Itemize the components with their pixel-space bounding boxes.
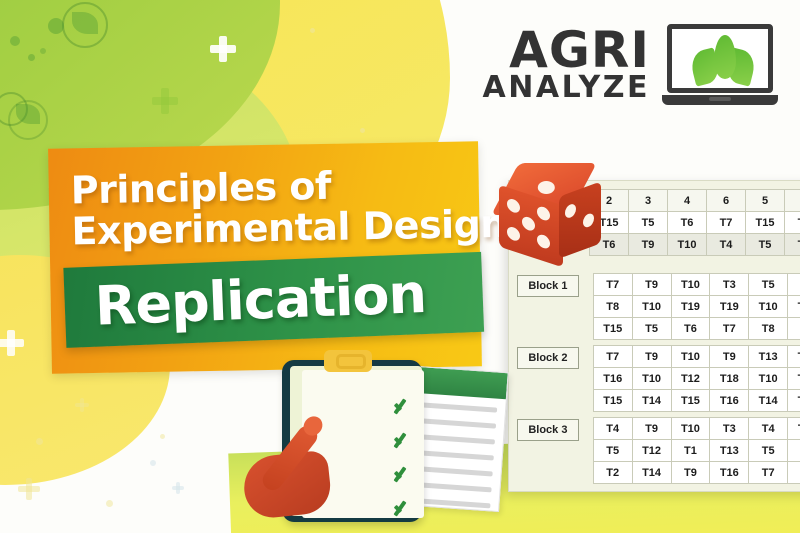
block-section-2: Block 2T7T9T10T9T13T14T16T10T12T18T10T15…: [517, 345, 800, 412]
table-cell: T7: [593, 274, 632, 296]
table-cell: T13: [710, 440, 749, 462]
table-cell: T8: [749, 318, 788, 340]
table-cell: T11: [788, 418, 800, 440]
table-row: T16T10T12T18T10T15: [593, 368, 800, 390]
table-cell: T10: [671, 346, 710, 368]
table-cell: T9: [632, 274, 671, 296]
table-cell: T14: [749, 390, 788, 412]
leaf-icon: [672, 30, 768, 88]
table-cell: T15: [788, 368, 800, 390]
dice-pip: [507, 197, 520, 214]
checkmark-icon: [392, 498, 414, 518]
decor-dot: [150, 460, 156, 466]
table-row: T6T9T10T4T5T6: [590, 234, 800, 256]
dice-pip: [537, 233, 550, 250]
table-cell: T10: [671, 418, 710, 440]
table-row: T15T5T6T7T8T5: [593, 318, 800, 340]
table-cell: T15: [593, 390, 632, 412]
table-header-cell-4: 5: [746, 190, 785, 212]
table-cell: T5: [593, 440, 632, 462]
decor-plus: [75, 398, 89, 412]
table-cell: T10: [668, 234, 707, 256]
table-top: 234655 T15T5T6T7T15T3T6T9T10T4T5T6: [589, 189, 800, 256]
table-header-cell-5: 5: [785, 190, 800, 212]
table-cell: T15: [671, 390, 710, 412]
checklist-item: [312, 396, 414, 418]
table-top-section: 234655 T15T5T6T7T15T3T6T9T10T4T5T6: [589, 189, 800, 256]
pointing-hand-icon: [244, 418, 354, 528]
table-cell: T8: [788, 462, 800, 484]
decor-dot: [160, 434, 165, 439]
table-cell: T12: [632, 440, 671, 462]
table-cell: T12: [671, 368, 710, 390]
checkmark-icon: [392, 464, 414, 486]
block-table-1: T7T9T10T3T5T6T8T10T19T19T10T15T15T5T6T7T…: [593, 273, 800, 340]
table-header-cell-3: 6: [707, 190, 746, 212]
decor-plus: [172, 482, 184, 494]
decor-dot: [10, 36, 20, 46]
table-cell: T5: [788, 318, 800, 340]
table-row: T8T10T19T19T10T15: [593, 296, 800, 318]
table-cell: T10: [632, 296, 671, 318]
table-cell: T5: [632, 318, 671, 340]
dice-pip: [537, 205, 550, 222]
dice-icon: [497, 163, 597, 263]
dice-pip: [522, 215, 535, 232]
table-row: T15T14T15T16T14T17: [593, 390, 800, 412]
decor-plus: [18, 478, 40, 500]
table-cell: T9: [632, 346, 671, 368]
table-row: T7T9T10T9T13T14: [593, 346, 800, 368]
table-cell: T10: [749, 368, 788, 390]
table-cell: T15: [788, 296, 800, 318]
table-cell: T16: [593, 368, 632, 390]
table-cell: T5: [749, 274, 788, 296]
decor-dot: [310, 28, 315, 33]
logo-wordmark: AGRI ANALYZE: [483, 27, 650, 102]
leaf-center: [714, 35, 736, 79]
block-section-1: Block 1T7T9T10T3T5T6T8T10T19T19T10T15T15…: [517, 273, 800, 340]
table-cell: T9: [671, 462, 710, 484]
table-cell: T6: [788, 274, 800, 296]
table-cell: T1: [671, 440, 710, 462]
block-label-1[interactable]: Block 1: [517, 275, 579, 297]
decor-dot: [48, 18, 64, 34]
dice-pip: [583, 212, 594, 229]
table-row: T7T9T10T3T5T6: [593, 274, 800, 296]
table-cell: T7: [593, 346, 632, 368]
decor-plus: [210, 36, 236, 62]
table-cell: T3: [710, 418, 749, 440]
decor-dot: [106, 500, 113, 507]
table-cell: T5: [746, 234, 785, 256]
block-table-2: T7T9T10T9T13T14T16T10T12T18T10T15T15T14T…: [593, 345, 800, 412]
table-cell: T15: [746, 212, 785, 234]
table-cell: T7: [788, 440, 800, 462]
table-cell: T10: [749, 296, 788, 318]
decor-plus: [152, 88, 178, 114]
laptop-icon: [662, 24, 778, 105]
laptop-screen: [667, 24, 773, 93]
table-cell: T6: [785, 234, 800, 256]
table-cell: T2: [593, 462, 632, 484]
logo-text-analyze: ANALYZE: [483, 74, 650, 102]
block-table-3: T4T9T10T3T4T11T5T12T1T13T5T7T2T14T9T16T7…: [593, 417, 800, 484]
block-section-3: Block 3T4T9T10T3T4T11T5T12T1T13T5T7T2T14…: [517, 417, 800, 484]
table-cell: T8: [593, 296, 632, 318]
table-cell: T6: [668, 212, 707, 234]
table-cell: T13: [749, 346, 788, 368]
table-cell: T15: [593, 318, 632, 340]
table-cell: T16: [710, 390, 749, 412]
dice-pip: [538, 181, 555, 194]
table-cell: T6: [671, 318, 710, 340]
table-cell: T4: [749, 418, 788, 440]
table-cell: T3: [785, 212, 800, 234]
highlight-text: Replication: [94, 265, 427, 336]
table-cell: T3: [710, 274, 749, 296]
table-cell: T7: [707, 212, 746, 234]
checkmark-icon: [392, 430, 414, 452]
table-cell: T17: [788, 390, 800, 412]
title-line-2: Experimental Design:: [71, 204, 480, 252]
decor-dot: [40, 48, 46, 54]
block-label-3[interactable]: Block 3: [517, 419, 579, 441]
clipboard-illustration: [262, 346, 510, 533]
laptop-base: [662, 95, 778, 105]
table-cell: T10: [671, 274, 710, 296]
table-cell: T7: [710, 318, 749, 340]
table-cell: T4: [593, 418, 632, 440]
clipboard-clamp: [324, 350, 372, 372]
decor-dot: [28, 54, 35, 61]
brand-logo: AGRI ANALYZE: [483, 24, 778, 105]
table-cell: T9: [629, 234, 668, 256]
table-row: T4T9T10T3T4T11: [593, 418, 800, 440]
decor-dot: [36, 438, 43, 445]
table-cell: T14: [632, 462, 671, 484]
table-header-cell-1: 3: [629, 190, 668, 212]
title-banner: Principles of Experimental Design: Repli…: [48, 141, 482, 373]
table-cell: T16: [710, 462, 749, 484]
logo-text-agri: AGRI: [483, 27, 650, 74]
table-row: T2T14T9T16T7T8: [593, 462, 800, 484]
slide-canvas: AGRI ANALYZE Principles of Experimental …: [0, 0, 800, 533]
highlight-band: Replication: [63, 252, 484, 348]
dice-pip: [565, 202, 576, 219]
table-cell: T14: [632, 390, 671, 412]
table-cell: T19: [671, 296, 710, 318]
table-cell: T5: [629, 212, 668, 234]
dice-pip: [507, 225, 520, 242]
decor-plus: [0, 330, 24, 356]
table-cell: T5: [749, 440, 788, 462]
checkmark-icon: [392, 396, 414, 418]
table-cell: T18: [710, 368, 749, 390]
table-cell: T7: [749, 462, 788, 484]
table-header-row: 234655: [590, 190, 800, 212]
table-row: T15T5T6T7T15T3: [590, 212, 800, 234]
table-row: T5T12T1T13T5T7: [593, 440, 800, 462]
decor-dot: [360, 128, 365, 133]
block-label-2[interactable]: Block 2: [517, 347, 579, 369]
table-cell: T19: [710, 296, 749, 318]
table-cell: T14: [788, 346, 800, 368]
table-cell: T4: [707, 234, 746, 256]
table-cell: T9: [632, 418, 671, 440]
table-cell: T9: [710, 346, 749, 368]
table-cell: T10: [632, 368, 671, 390]
table-header-cell-2: 4: [668, 190, 707, 212]
